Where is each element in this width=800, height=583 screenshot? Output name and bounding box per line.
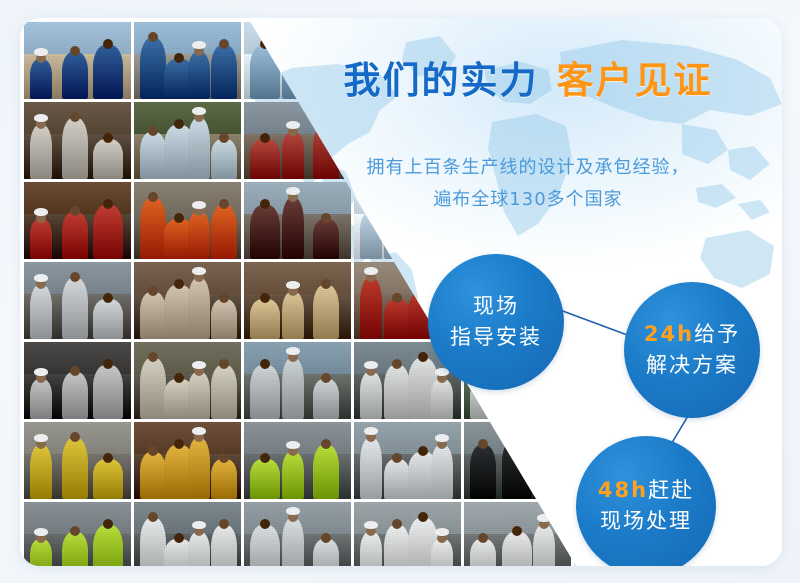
photo-cell bbox=[24, 102, 131, 179]
bubble2-line2: 解决方案 bbox=[646, 350, 738, 381]
bubble-24h-solution[interactable]: 24h给予 解决方案 bbox=[624, 282, 760, 418]
team-group-plant bbox=[134, 22, 241, 99]
headline-accent: 客户见证 bbox=[557, 59, 713, 102]
photo-cell bbox=[244, 342, 351, 419]
bubble-on-site-guidance[interactable]: 现场 指导安装 bbox=[428, 254, 564, 390]
photo-cell bbox=[24, 342, 131, 419]
photo-cell bbox=[24, 182, 131, 259]
page-title: 我们的实力客户见证 bbox=[288, 60, 768, 101]
photo-cell bbox=[244, 262, 351, 339]
bubble2-line1: 24h给予 bbox=[644, 319, 740, 350]
photo-cell bbox=[134, 22, 241, 99]
promo-banner: 我们的实力客户见证 拥有上百条生产线的设计及承包经验， 遍布全球130多个国家 … bbox=[0, 0, 800, 583]
photo-cell bbox=[464, 422, 571, 499]
photo-cell bbox=[354, 502, 461, 566]
photo-cell bbox=[24, 422, 131, 499]
photo-cell bbox=[24, 22, 131, 99]
staff-group-outdoor bbox=[244, 342, 351, 419]
photo-cell bbox=[134, 182, 241, 259]
three-men-group bbox=[134, 342, 241, 419]
photo-cell bbox=[24, 262, 131, 339]
bubble1-line1: 现场 bbox=[473, 291, 519, 322]
photo-cell bbox=[464, 502, 571, 566]
engineers-hardhats-site bbox=[24, 22, 131, 99]
photo-cell bbox=[354, 422, 461, 499]
photo-cell bbox=[134, 262, 241, 339]
clients-reception-table bbox=[134, 262, 241, 339]
bubble2-line1-rest: 给予 bbox=[694, 322, 740, 346]
bubble3-accent: 48h bbox=[598, 478, 648, 502]
headline-primary: 我们的实力 bbox=[344, 59, 539, 102]
connector-line-1-2 bbox=[560, 310, 630, 336]
banner-card: 我们的实力客户见证 拥有上百条生产线的设计及承包经验， 遍布全球130多个国家 … bbox=[20, 18, 782, 566]
executives-group-photo bbox=[354, 502, 461, 566]
bubble3-line1: 48h赶赴 bbox=[598, 475, 694, 506]
bubble-48h-onsite[interactable]: 48h赶赴 现场处理 bbox=[576, 436, 716, 566]
factory-tour-hardhats bbox=[24, 262, 131, 339]
worker-bent-equipment bbox=[464, 422, 571, 499]
conference-meeting-room bbox=[24, 182, 131, 259]
photo-cell bbox=[244, 422, 351, 499]
bubble1-line2: 指导安装 bbox=[450, 322, 542, 353]
bubble2-accent: 24h bbox=[644, 322, 694, 346]
warehouse-inspectors bbox=[244, 502, 351, 566]
visitors-outdoor-three bbox=[134, 102, 241, 179]
delegates-badges bbox=[24, 342, 131, 419]
handshake-office-three bbox=[24, 102, 131, 179]
banquet-handshake bbox=[134, 422, 241, 499]
yellow-hardhat-team bbox=[24, 422, 131, 499]
handshake-hardhats-sample bbox=[134, 182, 241, 259]
vip-vest-group bbox=[244, 422, 351, 499]
workshop-white-hardhats bbox=[134, 502, 241, 566]
inspection-walkthrough bbox=[354, 422, 461, 499]
subtitle-line-2: 遍布全球130多个国家 bbox=[288, 184, 768, 216]
photo-cell bbox=[24, 502, 131, 566]
bubble3-line1-rest: 赶赴 bbox=[648, 478, 694, 502]
photo-cell bbox=[134, 342, 241, 419]
vip-vests-meeting bbox=[24, 502, 131, 566]
page-subtitle: 拥有上百条生产线的设计及承包经验， 遍布全球130多个国家 bbox=[288, 152, 768, 216]
photo-cell bbox=[134, 102, 241, 179]
photo-cell bbox=[134, 422, 241, 499]
bubble3-line2: 现场处理 bbox=[600, 506, 692, 537]
photo-cell bbox=[134, 502, 241, 566]
photo-cell bbox=[244, 502, 351, 566]
delegation-line-up bbox=[464, 502, 571, 566]
dinner-reception-guests bbox=[244, 262, 351, 339]
subtitle-line-1: 拥有上百条生产线的设计及承包经验， bbox=[288, 152, 768, 184]
